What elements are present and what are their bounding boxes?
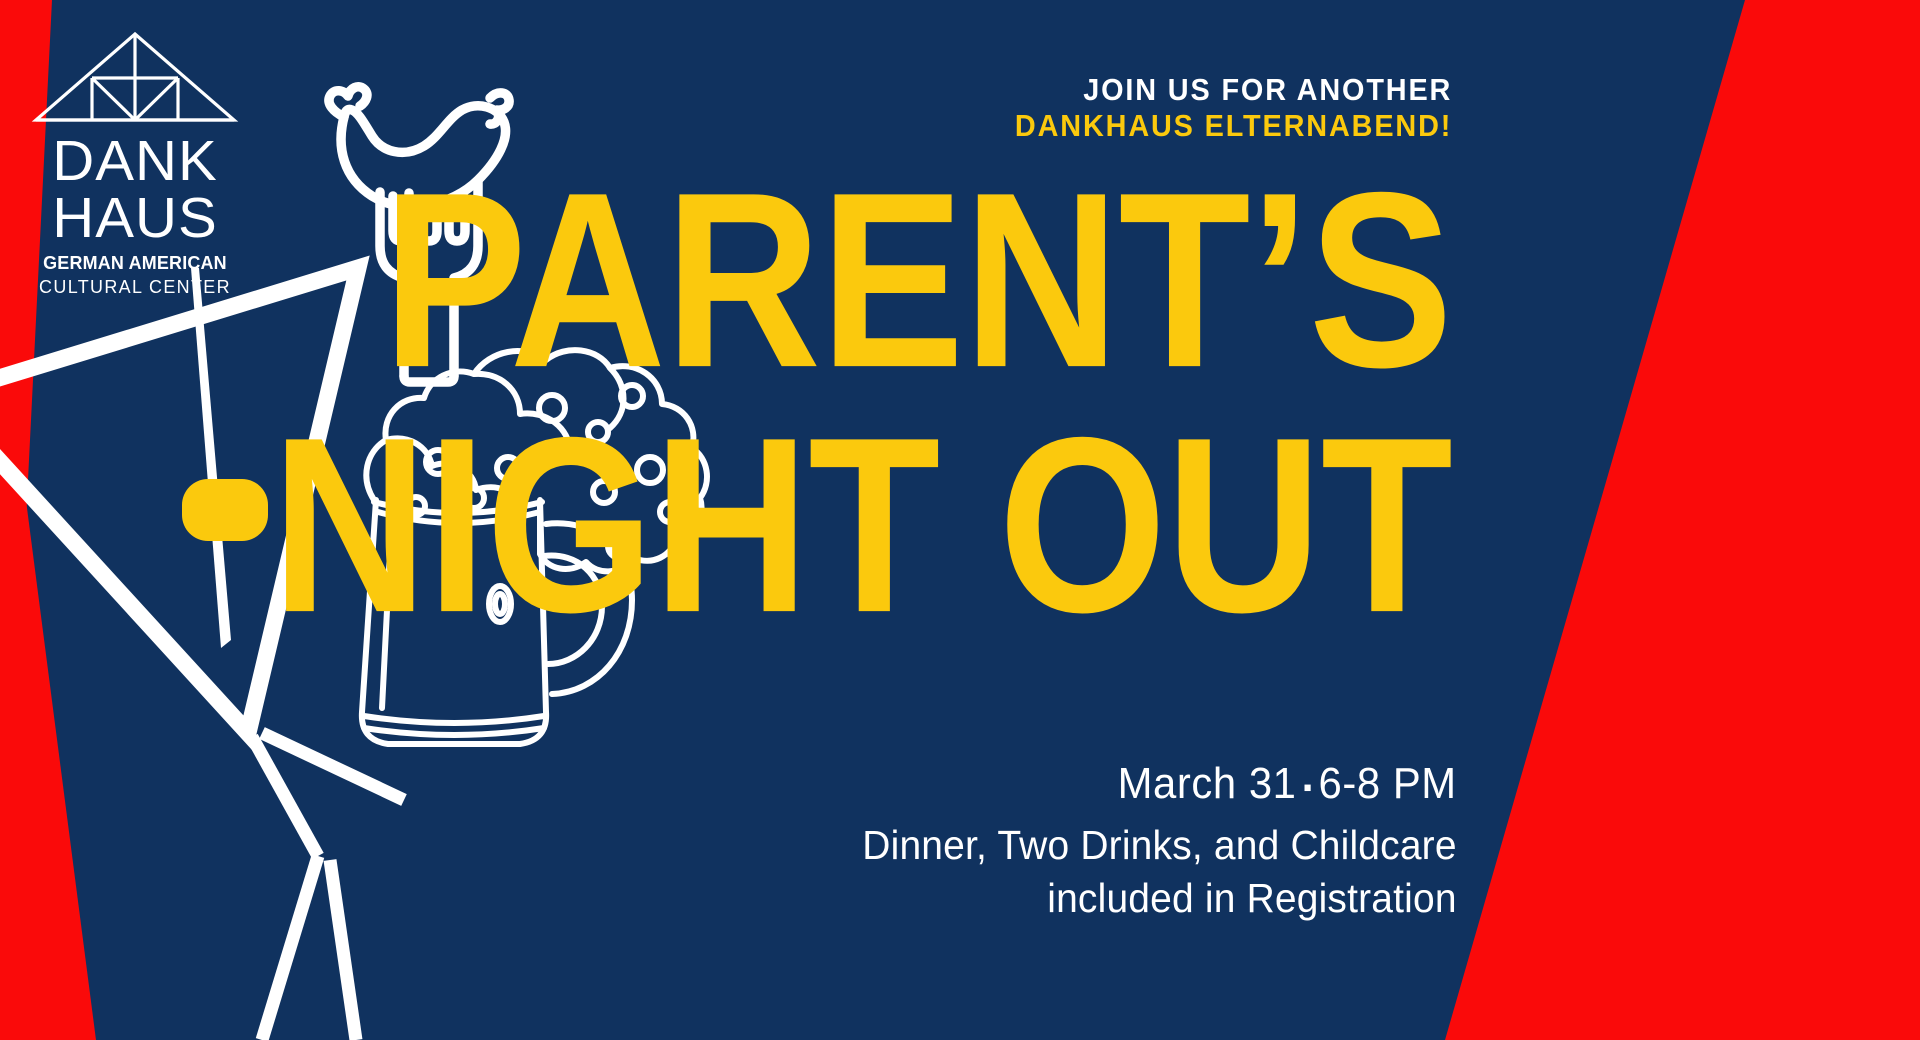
logo-subtitle-german-american: GERMAN AMERICAN (33, 252, 237, 274)
eyebrow-line-2: DANKHAUS ELTERNABEND! (1015, 110, 1452, 142)
event-description-line-2: included in Registration (863, 872, 1457, 925)
page-title: PARENT’S NIGHT OUT (317, 186, 1452, 623)
truss-diag-right (135, 78, 178, 120)
logo-word-dank: DANK (28, 135, 242, 188)
event-date: March 31 (1118, 759, 1297, 808)
event-date-time: March 31▪6-8 PM (863, 758, 1457, 810)
eyebrow-text: JOIN US FOR ANOTHER DANKHAUS ELTERNABEND… (982, 74, 1452, 142)
poster-canvas: DANK HAUS GERMAN AMERICAN CULTURAL CENTE… (0, 0, 1920, 1040)
headline-line-1: PARENT’S (272, 167, 1452, 397)
dankhaus-roof-truss-icon (30, 28, 240, 126)
detail-separator-icon: ▪ (1297, 772, 1319, 802)
event-description-line-1: Dinner, Two Drinks, and Childcare (863, 819, 1457, 872)
mug-base-ring1 (364, 716, 544, 723)
event-details: March 31▪6-8 PM Dinner, Two Drinks, and … (831, 758, 1457, 926)
dankhaus-logo: DANK HAUS GERMAN AMERICAN CULTURAL CENTE… (30, 28, 240, 298)
eyebrow-line-1: JOIN US FOR ANOTHER (1015, 74, 1452, 106)
event-time: 6-8 PM (1319, 759, 1457, 808)
truss-diag-left (92, 78, 135, 120)
mug-base-ring2 (364, 728, 544, 735)
logo-subtitle-cultural-center: CULTURAL CENTER (33, 276, 237, 298)
logo-word-haus: HAUS (28, 192, 242, 245)
headline-line-2: NIGHT OUT (272, 412, 1452, 642)
